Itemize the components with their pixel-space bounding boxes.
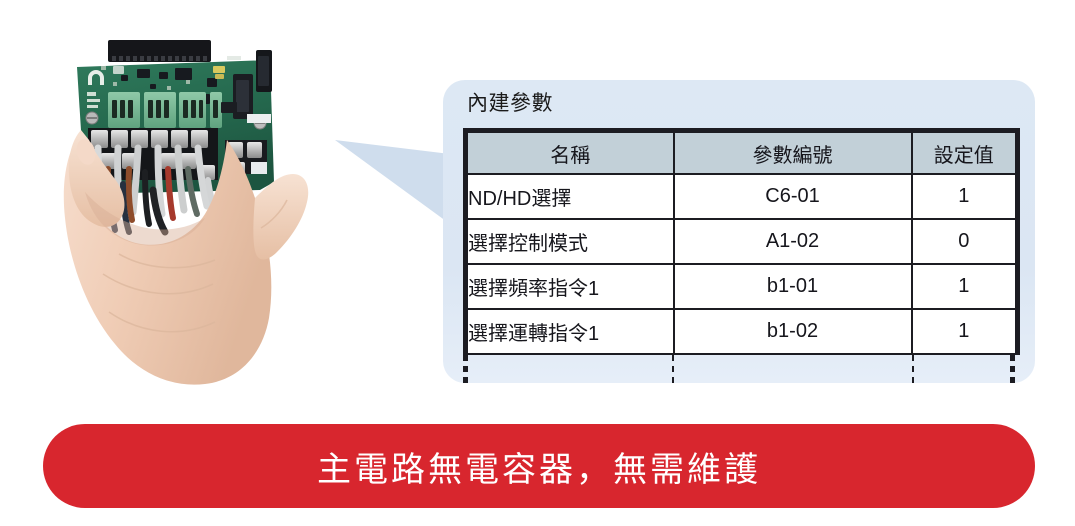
banner-text: 主電路無電容器，無需維護 — [317, 442, 761, 491]
column-header-name: 名稱 — [466, 131, 674, 175]
cell-param-number: C6-01 — [674, 174, 912, 219]
red-banner: 主電路無電容器，無需維護 — [43, 424, 1035, 508]
table-row: 選擇控制模式 A1-02 0 — [466, 219, 1018, 264]
callout-triangle-icon — [330, 124, 450, 229]
cell-param-value: 1 — [912, 264, 1018, 309]
hand-holding-pcb-photo — [55, 22, 330, 392]
cell-param-value: 1 — [912, 309, 1018, 354]
pcb-photo-illustration — [55, 22, 330, 392]
table-row: ND/HD選擇 C6-01 1 — [466, 174, 1018, 219]
cell-param-number: b1-02 — [674, 309, 912, 354]
dashed-divider-two — [912, 355, 914, 387]
cell-param-value: 0 — [912, 219, 1018, 264]
cell-param-name: ND/HD選擇 — [466, 174, 674, 219]
column-header-value: 設定值 — [912, 131, 1018, 175]
built-in-parameters-panel: 內建參數 名稱 參數編號 設定值 ND/HD選擇 C6-01 1 — [443, 80, 1035, 383]
green-terminal-blocks — [108, 92, 222, 128]
cell-param-number: A1-02 — [674, 219, 912, 264]
dashed-border-left — [463, 355, 468, 387]
cell-param-number: b1-01 — [674, 264, 912, 309]
cell-param-name: 選擇控制模式 — [466, 219, 674, 264]
cell-param-name: 選擇頻率指令1 — [466, 264, 674, 309]
parameter-table-wrapper: 名稱 參數編號 設定值 ND/HD選擇 C6-01 1 選擇控制模式 A1-02… — [463, 128, 1015, 391]
table-row: 選擇頻率指令1 b1-01 1 — [466, 264, 1018, 309]
dashed-border-right — [1010, 355, 1015, 387]
cell-param-name: 選擇運轉指令1 — [466, 309, 674, 354]
table-continuation-indicator — [463, 355, 1015, 391]
parameter-table: 名稱 參數編號 設定值 ND/HD選擇 C6-01 1 選擇控制模式 A1-02… — [463, 128, 1020, 355]
table-header-row: 名稱 參數編號 設定值 — [466, 131, 1018, 175]
dashed-divider-one — [672, 355, 674, 387]
cell-param-value: 1 — [912, 174, 1018, 219]
panel-title: 內建參數 — [467, 92, 553, 115]
column-header-number: 參數編號 — [674, 131, 912, 175]
callout-pointer — [330, 124, 450, 229]
table-row: 選擇運轉指令1 b1-02 1 — [466, 309, 1018, 354]
